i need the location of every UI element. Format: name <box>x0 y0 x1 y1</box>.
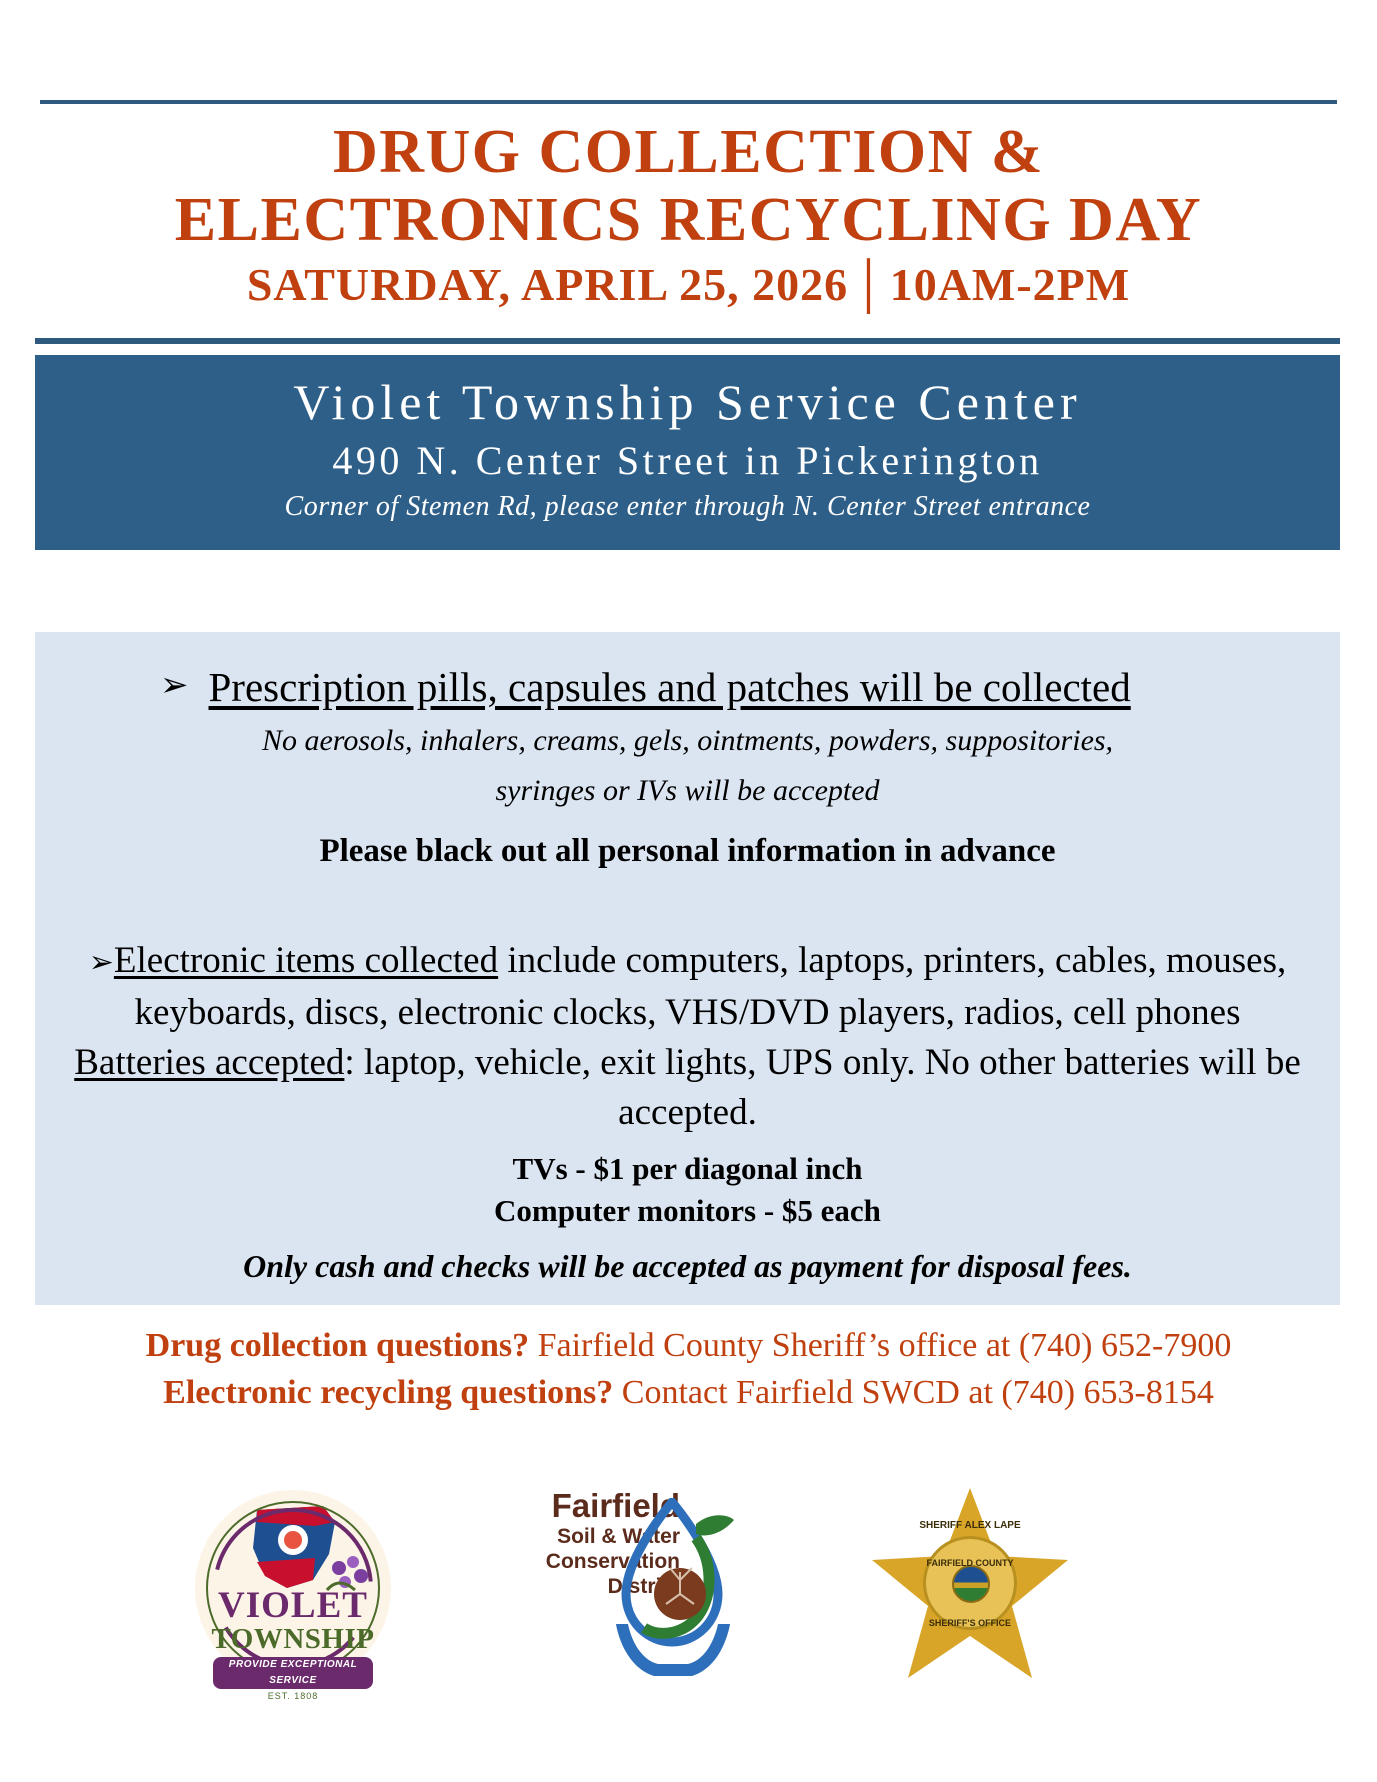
drug-exclusions-line-1: No aerosols, inhalers, creams, gels, oin… <box>65 720 1310 762</box>
sheriff-badge-mid-text: FAIRFIELD COUNTY <box>870 1558 1070 1568</box>
page-title-line-1: DRUG COLLECTION & <box>0 118 1377 186</box>
batteries-underlined: Batteries accepted <box>74 1042 344 1083</box>
price-monitors: Computer monitors - $5 each <box>65 1190 1310 1232</box>
contact-line-drug: Drug collection questions? Fairfield Cou… <box>0 1322 1377 1369</box>
water-drop-seed-hands-icon <box>600 1498 750 1698</box>
venue-banner: Violet Township Service Center 490 N. Ce… <box>35 355 1340 550</box>
fairfield-swcd-logo: Fairfield Soil & Water Conservation Dist… <box>505 1480 745 1720</box>
violet-township-line-1: VIOLET <box>195 1588 391 1624</box>
violet-township-line-2: TOWNSHIP <box>195 1624 391 1654</box>
arrow-bullet-icon-2: ➢ <box>89 945 114 980</box>
event-time: 10AM-2PM <box>890 259 1130 310</box>
violet-township-logo: VIOLET TOWNSHIP PROVIDE EXCEPTIONAL SERV… <box>195 1480 395 1710</box>
batteries-rest: : laptop, vehicle, exit lights, UPS only… <box>344 1042 1300 1133</box>
event-datetime-line: SATURDAY, APRIL 25, 2026│10AM-2PM <box>0 256 1377 314</box>
header-title-block: DRUG COLLECTION & ELECTRONICS RECYCLING … <box>0 118 1377 314</box>
sheriff-badge-inner-ring <box>923 1536 1017 1630</box>
electronics-lead-underlined: Electronic items collected <box>114 940 498 981</box>
venue-entrance-note: Corner of Stemen Rd, please enter throug… <box>35 487 1340 527</box>
contact-answer-drug: Fairfield County Sheriff’s office at (74… <box>529 1327 1231 1364</box>
contact-block: Drug collection questions? Fairfield Cou… <box>0 1322 1377 1416</box>
flyer-page: DRUG COLLECTION & ELECTRONICS RECYCLING … <box>0 0 1377 1782</box>
drug-section-heading: Prescription pills, capsules and patches… <box>209 662 1131 712</box>
price-tvs: TVs - $1 per diagonal inch <box>65 1148 1310 1190</box>
page-title-line-2: ELECTRONICS RECYCLING DAY <box>0 186 1377 254</box>
sheriff-badge-top-text: SHERIFF ALEX LAPE <box>870 1520 1070 1531</box>
sheriff-badge-bottom-text: SHERIFF'S OFFICE <box>870 1618 1070 1628</box>
contact-answer-electronics: Contact Fairfield SWCD at (740) 653-8154 <box>613 1374 1214 1411</box>
violet-township-wordmark: VIOLET TOWNSHIP PROVIDE EXCEPTIONAL SERV… <box>195 1588 391 1703</box>
violet-township-established: EST. 1808 <box>195 1689 391 1703</box>
arrow-bullet-icon: ➢ <box>160 662 189 708</box>
fairfield-county-seal-icon <box>952 1565 990 1603</box>
violet-township-tagline: PROVIDE EXCEPTIONAL SERVICE <box>213 1657 373 1689</box>
details-panel: ➢ Prescription pills, capsules and patch… <box>35 632 1340 1305</box>
event-date: SATURDAY, APRIL 25, 2026 <box>247 259 848 310</box>
date-time-divider: │ <box>848 259 890 310</box>
electronics-paragraph: ➢Electronic items collected include comp… <box>65 936 1310 1138</box>
payment-note: Only cash and checks will be accepted as… <box>65 1244 1310 1288</box>
sheriff-badge-logo: SHERIFF ALEX LAPE FAIRFIELD COUNTY SHERI… <box>865 1480 1080 1720</box>
drug-privacy-notice: Please black out all personal informatio… <box>65 828 1310 874</box>
header-top-rule <box>40 100 1337 104</box>
contact-line-electronics: Electronic recycling questions? Contact … <box>0 1369 1377 1416</box>
logo-row: VIOLET TOWNSHIP PROVIDE EXCEPTIONAL SERV… <box>0 1480 1377 1750</box>
contact-question-electronics: Electronic recycling questions? <box>163 1374 613 1411</box>
drug-bullet-row: ➢ Prescription pills, capsules and patch… <box>65 662 1310 712</box>
drug-exclusions-line-2: syringes or IVs will be accepted <box>65 770 1310 812</box>
venue-address: 490 N. Center Street in Pickerington <box>35 435 1340 487</box>
contact-question-drug: Drug collection questions? <box>146 1327 529 1364</box>
header-bottom-rule <box>35 338 1340 344</box>
venue-name: Violet Township Service Center <box>35 369 1340 435</box>
